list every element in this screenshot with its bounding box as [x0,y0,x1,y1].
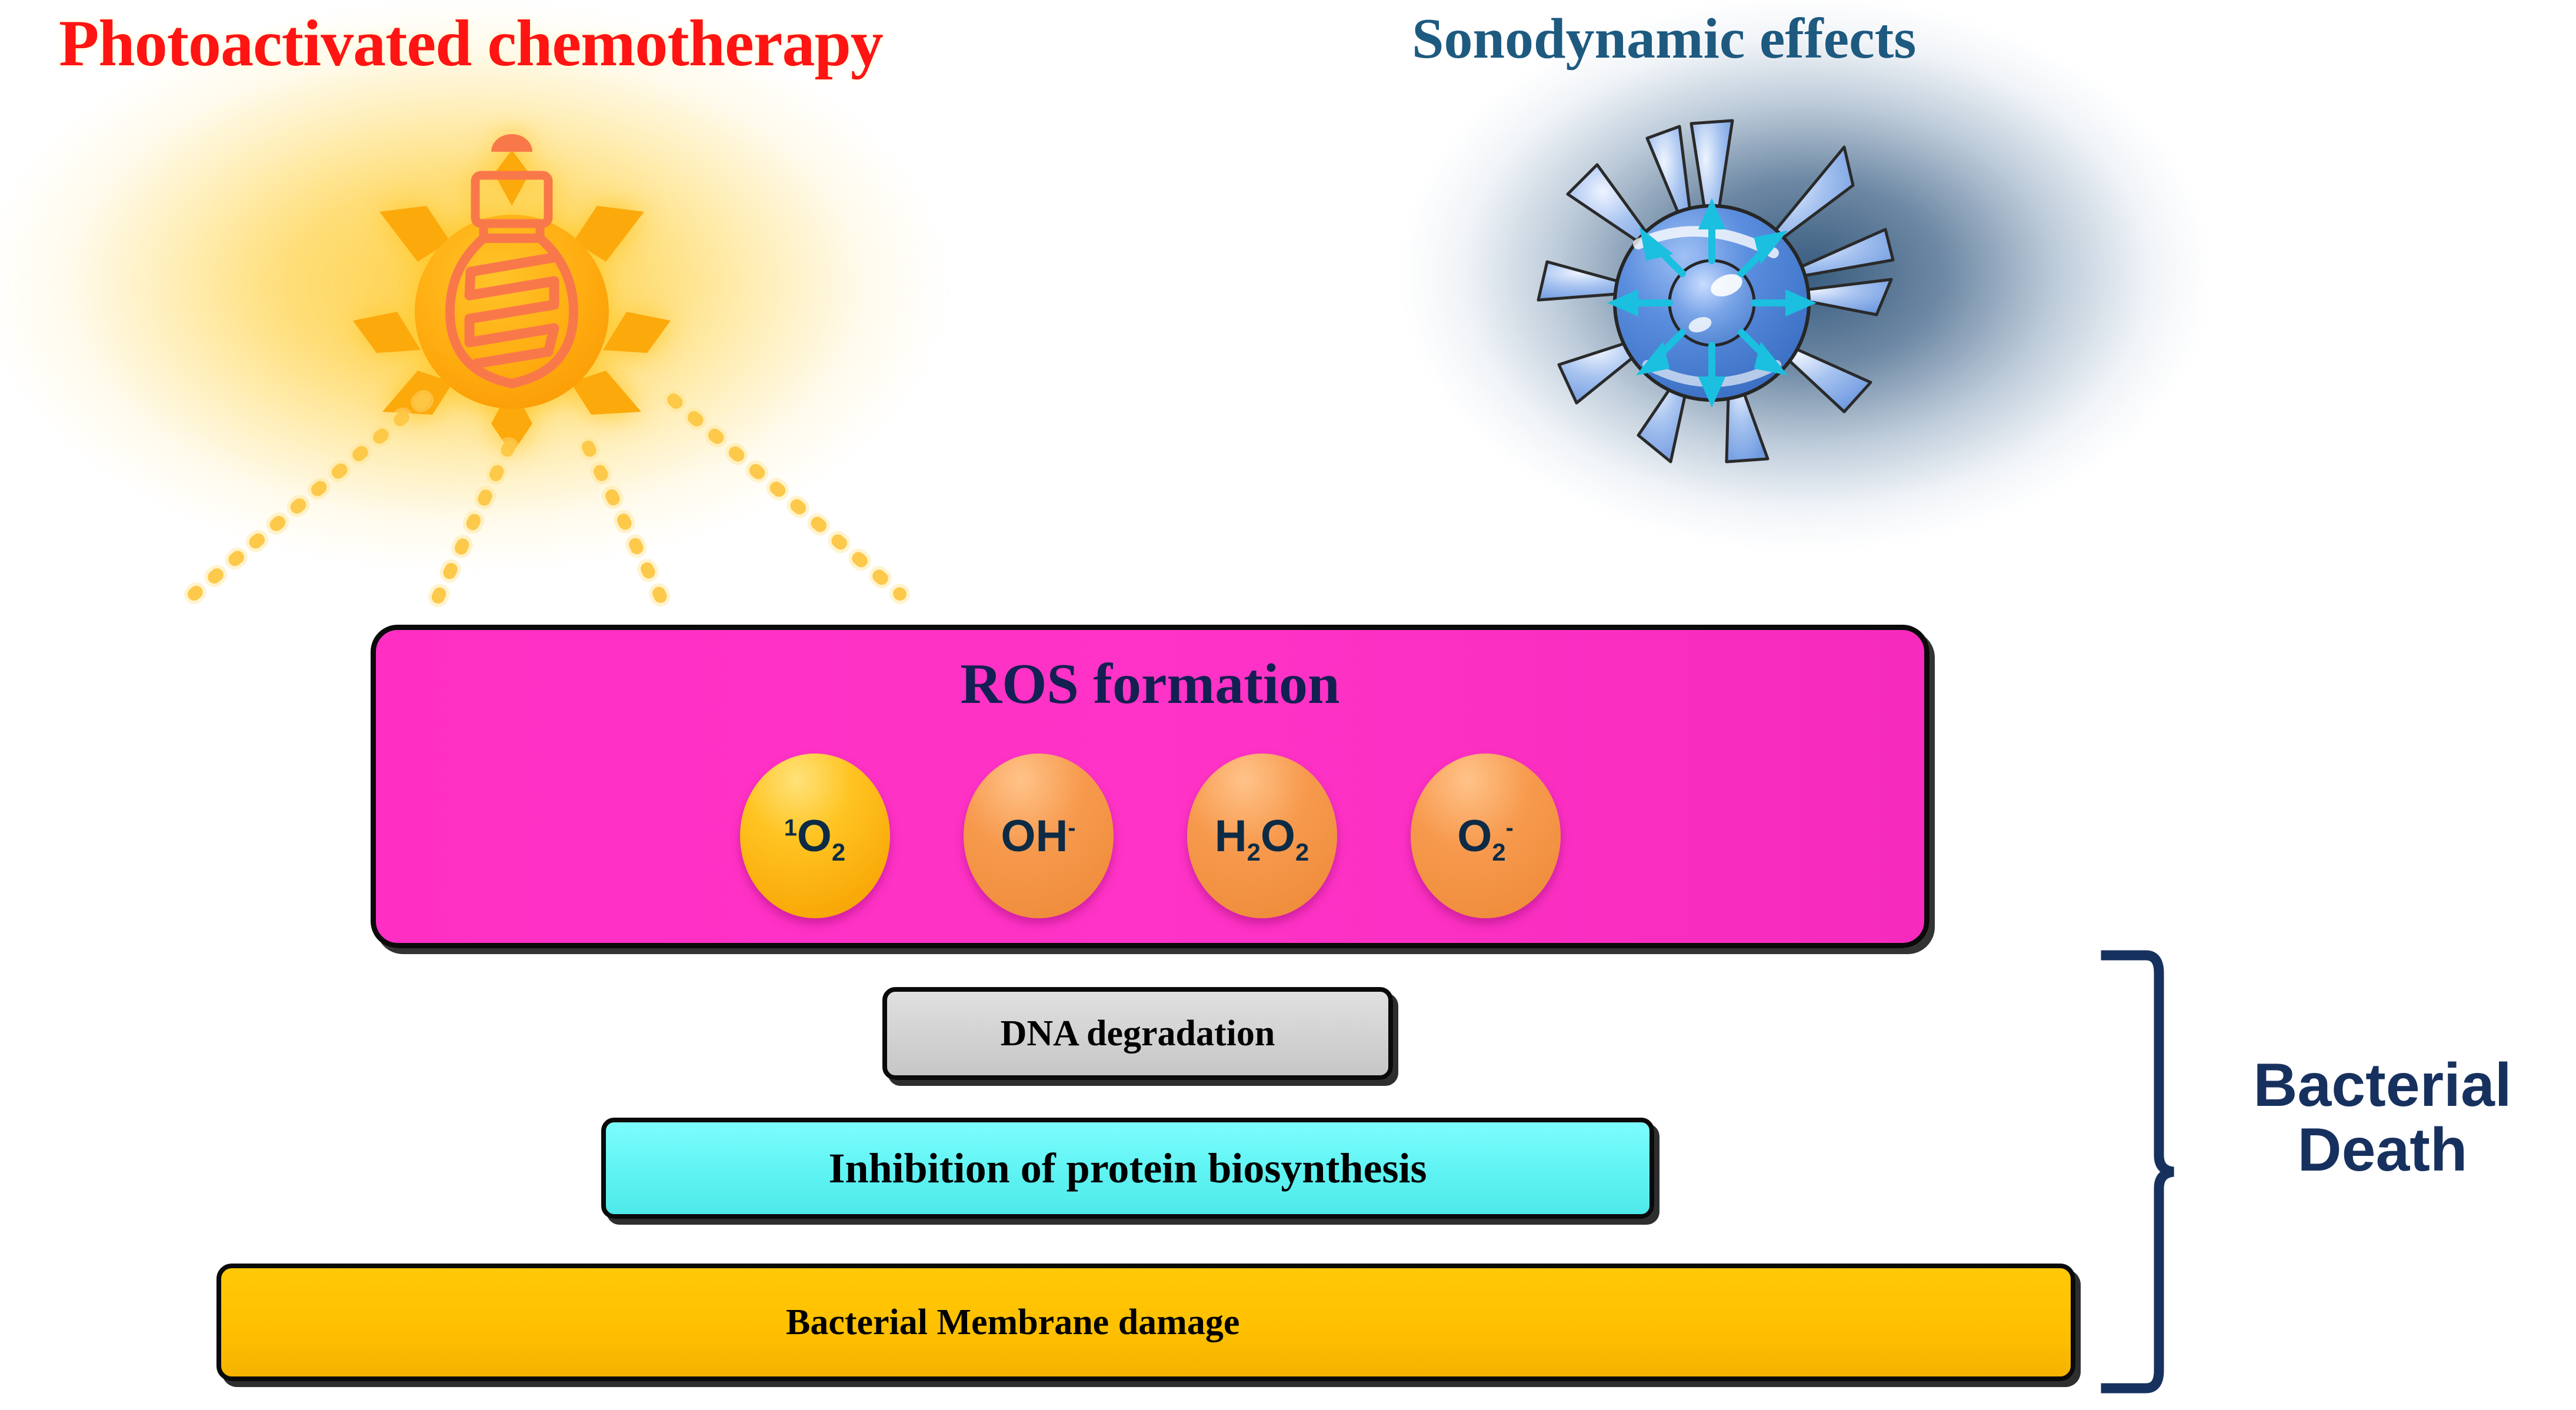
ros-bubble-superoxide-anion: O2- [1411,754,1561,918]
ros-sub: 2 [1295,838,1309,866]
bacterial-death-line2: Death [2200,1118,2565,1182]
ros-formation-title: ROS formation [376,651,1924,717]
protein-inhibition-box: Inhibition of protein biosynthesis [601,1118,1654,1219]
ros-bubble-hydroxyl-radical: OH- [964,754,1114,918]
ros-formula: O [1457,811,1492,861]
photoactivated-title: Photoactivated chemotherapy [59,6,1059,82]
ros-bubble-hydrogen-peroxide: H2O2 [1187,754,1337,918]
ros-presup: 1 [784,815,797,841]
ros-formation-box: ROS formation 1O2 OH- H2O2 O2- [371,625,1929,948]
ros-formula: OH [1001,811,1068,861]
bacterial-death-line1: Bacterial [2200,1053,2565,1118]
bacterial-death-label: Bacterial Death [2200,1053,2565,1182]
ros-sub: 2 [1492,838,1505,866]
cavitation-bubble-star-icon [1524,106,1900,471]
curly-brace-icon [2100,948,2188,1395]
ros-postsup: - [1068,815,1075,841]
sonodynamic-title: Sonodynamic effects [1412,6,2235,72]
light-rays-group [118,382,912,618]
ros-bubble-singlet-oxygen: 1O2 [740,754,890,918]
dna-degradation-box: DNA degradation [882,987,1393,1080]
membrane-damage-box: Bacterial Membrane damage [216,1264,2075,1381]
ros-species-group: 1O2 OH- H2O2 O2- [376,748,1924,924]
ros-sub: 2 [832,838,845,866]
ros-formula: O [797,811,832,861]
ros-postsup: - [1506,815,1514,841]
ros-sub: 2 [1247,838,1261,866]
